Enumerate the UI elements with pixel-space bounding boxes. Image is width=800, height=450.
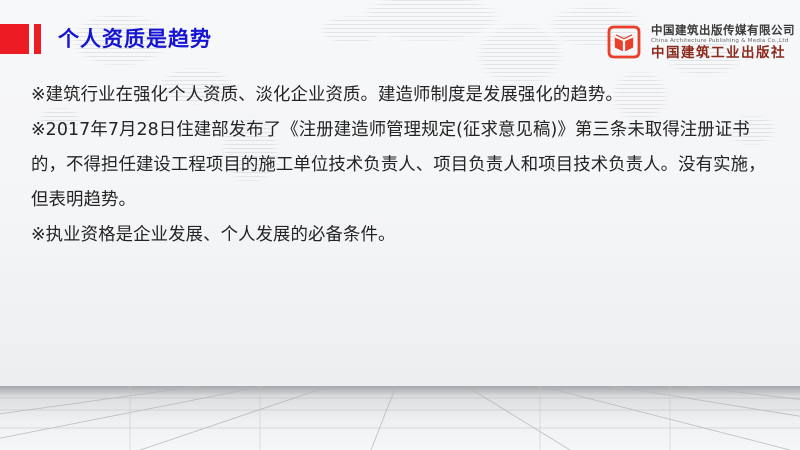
body-paragraph-1: ※建筑行业在强化个人资质、淡化企业资质。建造师制度是发展强化的趋势。	[31, 78, 771, 113]
publisher-company-en: China Architecture Publishing & Media Co…	[651, 37, 795, 45]
body-paragraph-2: ※2017年7月28日住建部发布了《注册建造师管理规定(征求意见稿)》第三条未取…	[31, 113, 771, 218]
floor-grid-lines	[0, 386, 800, 450]
publisher-logo-text: 中国建筑出版传媒有限公司 China Architecture Publishi…	[651, 24, 795, 61]
presentation-slide: 个人资质是趋势 中国建筑出版传媒有限公司 China Architecture …	[0, 0, 800, 450]
slide-body-text: ※建筑行业在强化个人资质、淡化企业资质。建造师制度是发展强化的趋势。 ※2017…	[31, 78, 771, 253]
publisher-company-cn: 中国建筑出版传媒有限公司	[651, 24, 795, 37]
title-accent-bar	[34, 24, 41, 54]
slide-floor-perspective	[0, 386, 800, 450]
publisher-press-cn: 中国建筑工业出版社	[651, 45, 795, 61]
title-accent-block	[0, 24, 29, 54]
body-paragraph-3: ※执业资格是企业发展、个人发展的必备条件。	[31, 218, 771, 253]
slide-title-row: 个人资质是趋势	[0, 22, 212, 56]
publisher-logo: 中国建筑出版传媒有限公司 China Architecture Publishi…	[604, 22, 795, 62]
page-title: 个人资质是趋势	[58, 24, 212, 54]
open-book-logo-icon	[604, 22, 644, 62]
